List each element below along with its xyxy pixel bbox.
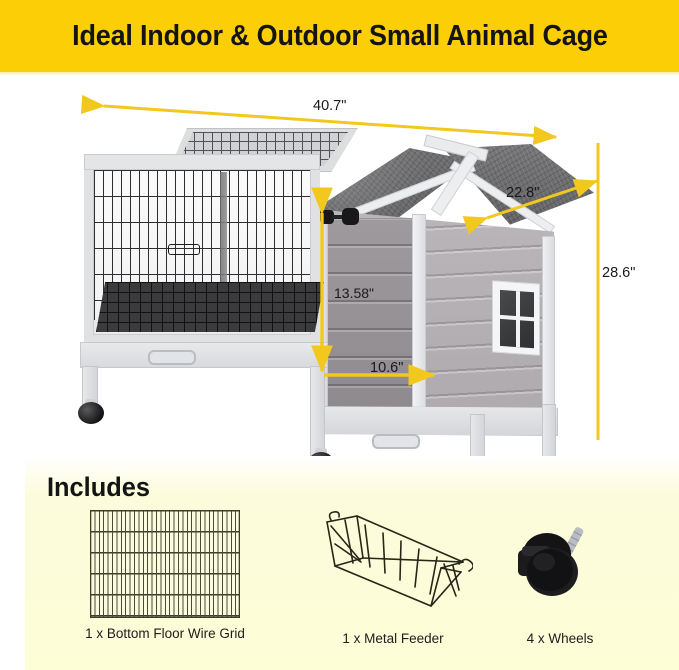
product-photo — [0, 76, 679, 456]
tray-handle-right[interactable] — [372, 434, 420, 449]
page-title: Ideal Indoor & Outdoor Small Animal Cage — [72, 20, 608, 53]
includes-item-caption: 1 x Bottom Floor Wire Grid — [65, 626, 265, 641]
run-door-latch-icon — [168, 244, 200, 255]
leg-mid-left — [310, 366, 325, 458]
hutch-right-trim — [542, 236, 555, 422]
wire-grid-icon — [90, 510, 240, 618]
door-latch-icon — [320, 208, 360, 224]
hutch-corner-trim — [412, 214, 426, 414]
includes-item-caption: 4 x Wheels — [475, 631, 645, 646]
hutch-bottom-tray — [322, 406, 558, 436]
includes-item-wire-grid: 1 x Bottom Floor Wire Grid — [65, 510, 265, 641]
banner-fade — [0, 66, 679, 76]
latch-knob-right — [342, 208, 359, 225]
hutch-window — [492, 280, 540, 355]
includes-panel: Includes 1 x Bottom Floor Wire Grid — [25, 456, 679, 670]
run-interior-post — [220, 172, 227, 284]
includes-item-metal-feeder: 1 x Metal Feeder — [293, 510, 493, 646]
product-infographic: Ideal Indoor & Outdoor Small Animal Cage — [0, 0, 679, 670]
includes-item-caption: 1 x Metal Feeder — [293, 631, 493, 646]
includes-heading: Includes — [47, 472, 150, 503]
caster-wheel-front-left — [78, 402, 104, 424]
metal-feeder-icon — [313, 510, 473, 618]
title-banner: Ideal Indoor & Outdoor Small Animal Cage — [0, 0, 679, 72]
tray-handle-left[interactable] — [148, 350, 196, 365]
run-floor-grid — [96, 282, 324, 332]
run-base-rail — [80, 342, 328, 368]
cage-illustration — [72, 114, 572, 444]
hutch-door-planks — [326, 218, 414, 408]
caster-wheel-icon — [500, 510, 620, 618]
includes-item-wheels: 4 x Wheels — [475, 510, 645, 646]
run-top-rail — [84, 154, 320, 170]
